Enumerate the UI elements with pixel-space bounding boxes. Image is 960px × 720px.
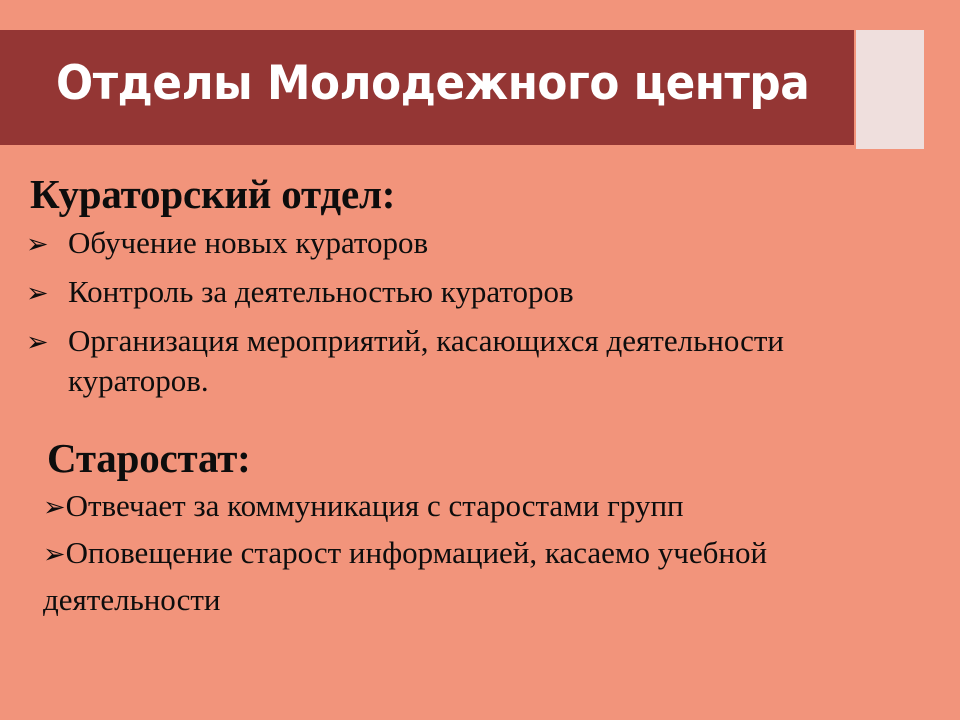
- section-kuratorskiy-otdel: Кураторский отдел: ➢ Обучение новых кура…: [0, 169, 960, 410]
- list-item: ➢Оповещение старост информацией, касаемо…: [0, 531, 960, 576]
- list-item: ➢ Контроль за деятельностью кураторов: [0, 272, 828, 312]
- section-heading: Старостат:: [0, 433, 960, 483]
- slide-body: Кураторский отдел: ➢ Обучение новых кура…: [0, 145, 960, 720]
- list-item: ➢Отвечает за коммуникация с старостами г…: [0, 484, 960, 529]
- list-item-text: Отвечает за коммуникация с старостами гр…: [66, 488, 684, 523]
- section-starostat: Старостат: ➢Отвечает за коммуникация с с…: [0, 433, 960, 622]
- title-accent-box: [856, 30, 924, 149]
- slide: Отделы Молодежного центра Кураторский от…: [0, 0, 960, 720]
- list-item: ➢ Организация мероприятий, касающихся де…: [0, 321, 828, 401]
- continuation-text: деятельности: [0, 578, 960, 622]
- arrow-bullet-icon: ➢: [26, 322, 49, 362]
- list-item-text: Организация мероприятий, касающихся деят…: [68, 323, 784, 398]
- list-item: ➢ Обучение новых кураторов: [0, 223, 828, 263]
- list-item-text: Оповещение старост информацией, касаемо …: [66, 535, 767, 570]
- arrow-bullet-icon: ➢: [43, 539, 66, 569]
- list-item-text: Контроль за деятельностью кураторов: [68, 274, 574, 309]
- list-item-text: Обучение новых кураторов: [68, 225, 428, 260]
- page-title: Отделы Молодежного центра: [56, 55, 781, 113]
- bullet-list-starostat: ➢Отвечает за коммуникация с старостами г…: [0, 484, 960, 576]
- arrow-bullet-icon: ➢: [26, 273, 49, 313]
- arrow-bullet-icon: ➢: [43, 492, 66, 522]
- bullet-list-kuratorskiy: ➢ Обучение новых кураторов ➢ Контроль за…: [0, 223, 960, 401]
- section-heading: Кураторский отдел:: [0, 169, 960, 219]
- arrow-bullet-icon: ➢: [26, 224, 49, 264]
